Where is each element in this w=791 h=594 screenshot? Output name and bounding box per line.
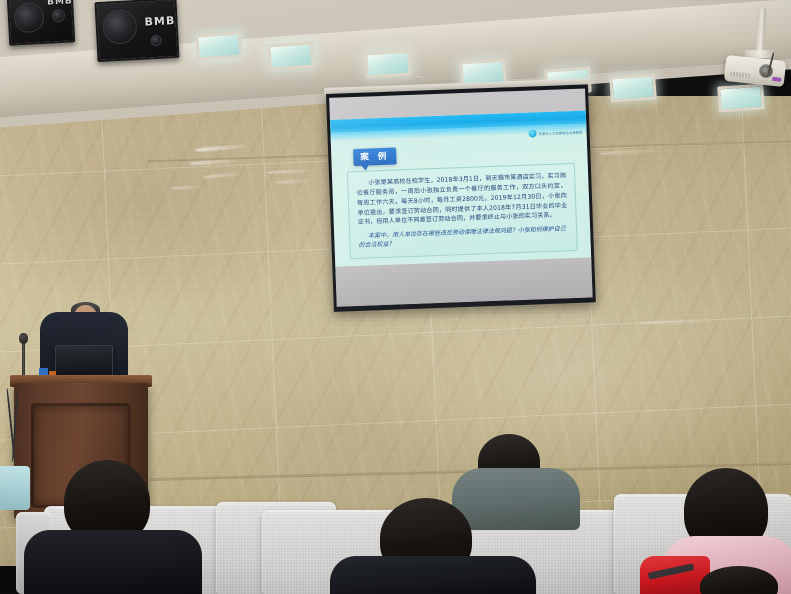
slide-logo-label: 无锡市人力资源和社会保障局 bbox=[538, 129, 582, 136]
slide-case-paragraph: 小张是某高校在校学生，2018年3月1日，到无锡市某酒店实习，实习岗位餐厅服务员… bbox=[356, 171, 568, 228]
lecture-hall-photo: BMB BMB 无锡市人力资源和社会保障局 案 例 小张是某高 bbox=[0, 0, 791, 594]
speaker-woofer bbox=[13, 2, 45, 34]
projection-screen-surface: 无锡市人力资源和社会保障局 案 例 小张是某高校在校学生，2018年3月1日，到… bbox=[329, 89, 592, 307]
slide-case-badge: 案 例 bbox=[353, 147, 397, 166]
projector-lens bbox=[758, 63, 773, 78]
projection-screen-frame: 无锡市人力资源和社会保障局 案 例 小张是某高校在校学生，2018年3月1日，到… bbox=[326, 84, 596, 311]
speaker-tweeter bbox=[150, 35, 162, 47]
wall-speaker-right: BMB bbox=[94, 0, 179, 62]
ceiling-light bbox=[267, 41, 315, 70]
podium-microphone bbox=[19, 333, 28, 344]
ceiling-light bbox=[717, 83, 765, 112]
side-chair bbox=[0, 466, 30, 510]
presenter-laptop bbox=[55, 345, 113, 376]
logo-mark-icon bbox=[528, 129, 536, 137]
ceiling-light bbox=[609, 73, 657, 102]
ceiling-smoke-detector bbox=[415, 76, 423, 81]
audience-member-front-left-jacket bbox=[24, 530, 202, 594]
speaker-tweeter bbox=[52, 9, 66, 23]
speaker-brand-label: BMB bbox=[144, 14, 175, 29]
ceiling-light bbox=[364, 49, 412, 78]
projector-vent bbox=[730, 71, 750, 78]
wall-speaker-left: BMB bbox=[7, 0, 76, 46]
projector-indicator bbox=[772, 77, 781, 82]
slide-case-body: 小张是某高校在校学生，2018年3月1日，到无锡市某酒店实习，实习岗位餐厅服务员… bbox=[347, 163, 578, 259]
screen-blank-area-bottom bbox=[335, 257, 592, 306]
ceiling-projector bbox=[724, 55, 786, 87]
slide-case-question: 本案中，用人单位存在哪些违反劳动保障法律法规问题？小张如何维护自己的合法权益？ bbox=[358, 226, 569, 252]
microphone-stand bbox=[22, 340, 25, 376]
slide-organization-logo: 无锡市人力资源和社会保障局 bbox=[528, 128, 582, 138]
audience-member-front-center-jacket bbox=[330, 556, 536, 594]
speaker-brand-label: BMB bbox=[47, 0, 73, 8]
projected-slide: 无锡市人力资源和社会保障局 案 例 小张是某高校在校学生，2018年3月1日，到… bbox=[330, 110, 592, 275]
speaker-woofer bbox=[102, 9, 138, 45]
ceiling-light bbox=[195, 31, 243, 60]
audience-member-back-center-jacket bbox=[452, 468, 580, 530]
